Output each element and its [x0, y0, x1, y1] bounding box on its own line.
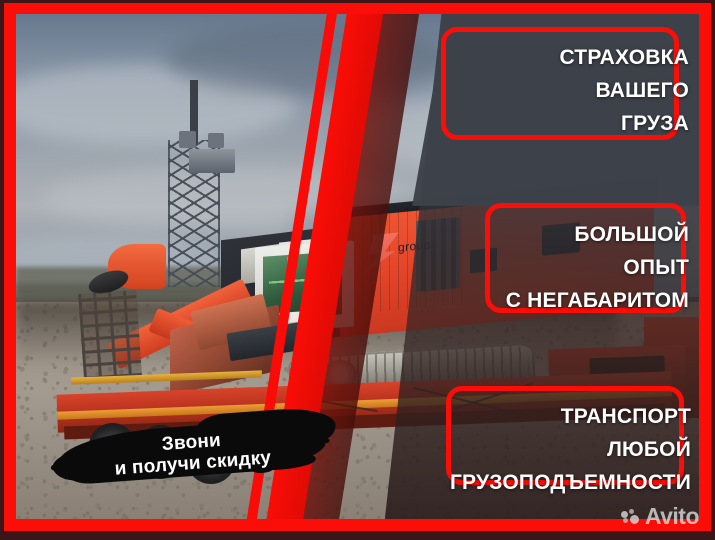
- benefit-line: ГРУЗОПОДЪЕМНОСТИ: [450, 466, 691, 499]
- grid-ramp: [78, 290, 142, 380]
- tower-platform: [189, 149, 234, 172]
- avito-watermark: Avito: [621, 505, 699, 528]
- benefit-line: БОЛЬШОЙ: [506, 218, 689, 251]
- avito-dots-icon: [621, 509, 641, 525]
- benefit-line: ГРУЗА: [559, 107, 689, 140]
- benefit-text-experience: БОЛЬШОЙ ОПЫТ С НЕГАБАРИТОМ: [506, 218, 689, 317]
- tower-cabin: [179, 131, 197, 148]
- benefit-line: ЛЮБОЙ: [450, 433, 691, 466]
- benefit-text-capacity: ТРАНСПОРТ ЛЮБОЙ ГРУЗОПОДЪЕМНОСТИ: [450, 400, 691, 499]
- avito-wordmark: Avito: [645, 505, 699, 528]
- advertisement-banner: group: [0, 0, 715, 540]
- tower-cabin: [208, 133, 224, 148]
- benefit-text-insurance: СТРАХОВКА ВАШЕГО ГРУЗА: [559, 41, 689, 140]
- discount-line-2: и получи скидку: [114, 447, 272, 479]
- benefit-line: ТРАНСПОРТ: [450, 400, 691, 433]
- benefit-line: С НЕГАБАРИТОМ: [506, 284, 689, 317]
- benefit-line: ВАШЕГО: [559, 74, 689, 107]
- benefit-line: ОПЫТ: [506, 251, 689, 284]
- benefit-line: СТРАХОВКА: [559, 41, 689, 74]
